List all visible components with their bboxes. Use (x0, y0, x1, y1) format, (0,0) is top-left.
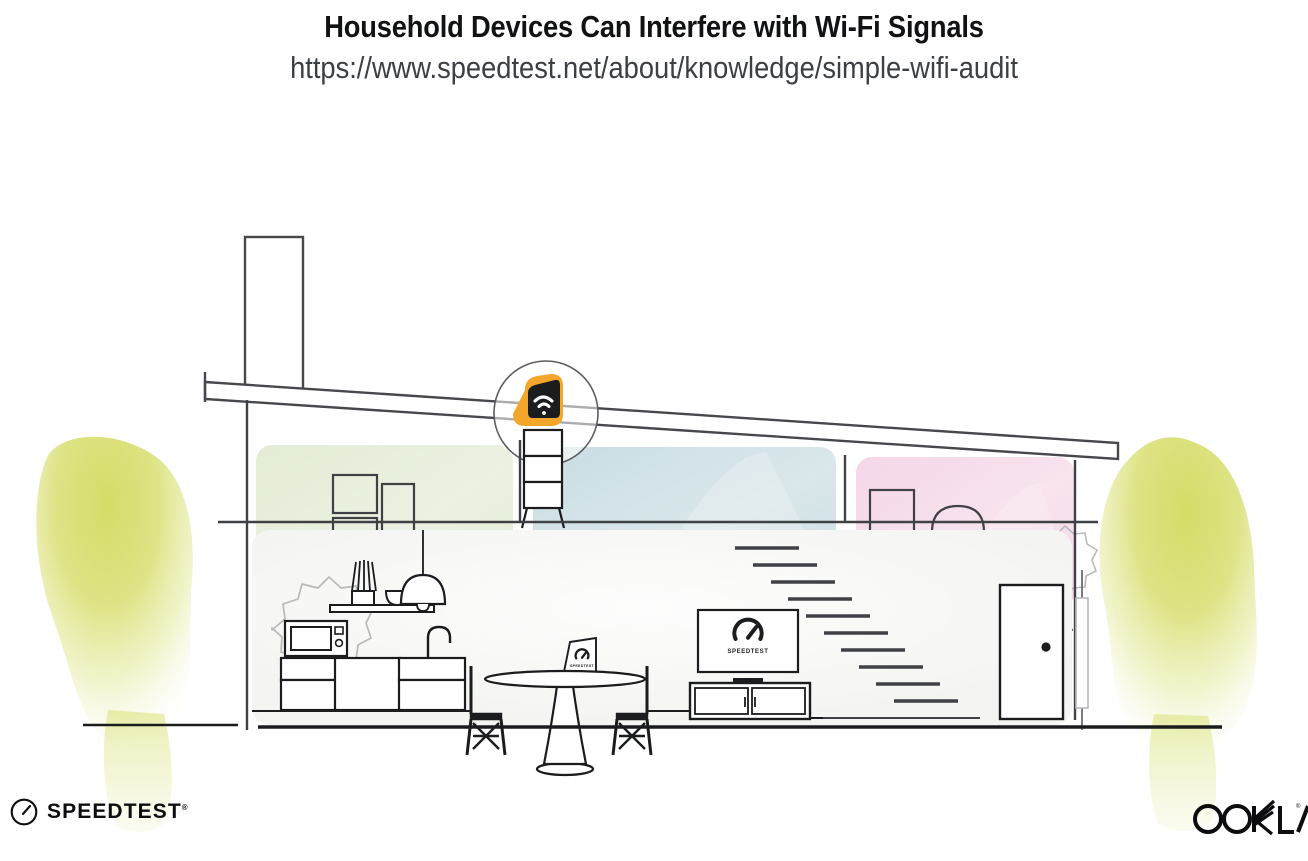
foliage-left (36, 437, 193, 832)
front-door (1000, 585, 1063, 719)
header: Household Devices Can Interfere with Wi-… (0, 0, 1308, 86)
speedtest-trademark: ® (182, 803, 188, 812)
narrow-window (1076, 598, 1088, 708)
shelf-bowl-a (352, 591, 374, 605)
ground-lines (83, 725, 1222, 727)
ookla-logo[interactable]: ® OOKLA (1190, 796, 1308, 842)
foliage-right (1099, 437, 1256, 831)
ookla-trademark: ® (1296, 803, 1301, 810)
chimney (245, 237, 303, 399)
microwave (285, 621, 347, 656)
speedtest-logo[interactable]: SPEEDTEST® (10, 798, 188, 826)
microwave-dial (336, 640, 343, 647)
door-knob (1041, 642, 1050, 651)
microwave-window (291, 627, 331, 650)
source-url: https://www.speedtest.net/about/knowledg… (78, 44, 1229, 86)
infographic-canvas: Household Devices Can Interfere with Wi-… (0, 0, 1308, 861)
roof-structure (205, 237, 1118, 459)
microwave-panel (335, 627, 343, 634)
house-cutaway-illustration: SPEEDTEST (0, 110, 1308, 810)
exterior-post (1076, 570, 1088, 730)
laptop-brand-text: SPEEDTEST (570, 664, 595, 668)
page-title: Household Devices Can Interfere with Wi-… (78, 0, 1229, 44)
ookla-mark-icon: ® (1190, 796, 1308, 842)
speedtest-wordmark-text: SPEEDTEST (47, 800, 182, 823)
speedtest-gauge-icon (10, 798, 38, 826)
speedtest-wordmark: SPEEDTEST® (47, 800, 188, 824)
media-console (690, 683, 810, 719)
footer: SPEEDTEST® ® OOKLA (0, 788, 1308, 848)
door-panel (1000, 585, 1063, 719)
tv-brand-text: SPEEDTEST (727, 649, 768, 655)
kitchen-counter (281, 658, 465, 710)
